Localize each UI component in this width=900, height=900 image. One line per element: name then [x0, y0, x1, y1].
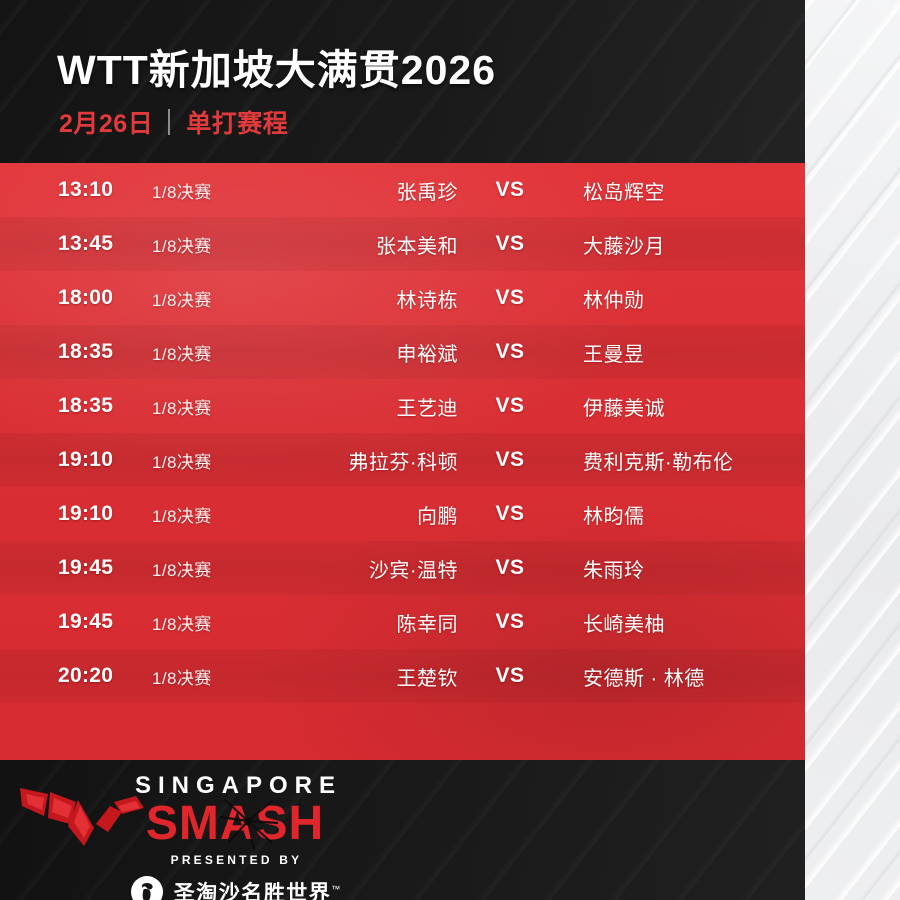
match-stage: 1/8决赛	[152, 556, 212, 581]
event-date: 2月26日	[59, 104, 153, 140]
match-stage: 1/8决赛	[152, 610, 212, 635]
player-two-name: 安德斯 · 林德	[583, 662, 705, 691]
match-time: 19:45	[58, 610, 140, 634]
player-two-name: 朱雨玲	[583, 554, 645, 583]
versus-label: VS	[486, 286, 534, 310]
player-two-name: 王曼昱	[583, 338, 645, 367]
page-title: WTT新加坡大满贯2026	[57, 36, 496, 96]
versus-label: VS	[486, 556, 534, 580]
table-row[interactable]: 19:451/8决赛沙宾·温特VS朱雨玲	[0, 541, 805, 595]
sponsor-name-text: 圣淘沙名胜世界	[174, 882, 332, 900]
table-row[interactable]: 19:101/8决赛向鹏VS林昀儒	[0, 487, 805, 541]
schedule-poster: WTT新加坡大满贯2026 2月26日 单打赛程 13:101/8决赛张禹珍VS…	[0, 0, 900, 900]
player-one-name: 陈幸同	[300, 608, 458, 637]
match-stage: 1/8决赛	[152, 502, 212, 527]
poster-header: WTT新加坡大满贯2026 2月26日 单打赛程	[0, 0, 805, 163]
player-one-name: 林诗栋	[300, 284, 458, 313]
versus-label: VS	[486, 394, 534, 418]
table-row[interactable]: 19:451/8决赛陈幸同VS长崎美柚	[0, 595, 805, 649]
player-two-name: 松岛辉空	[583, 176, 665, 205]
match-stage: 1/8决赛	[152, 340, 212, 365]
match-time: 19:45	[58, 556, 140, 580]
match-stage: 1/8决赛	[152, 178, 212, 203]
brand-smash-text: SMASH	[146, 797, 324, 850]
brand-singapore-text: SINGAPORE	[128, 774, 342, 798]
player-one-name: 向鹏	[300, 500, 458, 529]
versus-label: VS	[486, 610, 534, 634]
table-row[interactable]: 18:001/8决赛林诗栋VS林仲勋	[0, 271, 805, 325]
player-one-name: 张禹珍	[300, 176, 458, 205]
header-subline: 2月26日 单打赛程	[59, 104, 288, 140]
table-row[interactable]: 20:201/8决赛王楚钦VS安德斯 · 林德	[0, 649, 805, 703]
match-time: 18:35	[58, 394, 140, 418]
match-time: 20:20	[58, 664, 140, 688]
resorts-world-sentosa-logo-icon	[130, 875, 164, 900]
match-stage: 1/8决赛	[152, 448, 212, 473]
versus-label: VS	[486, 664, 534, 688]
versus-label: VS	[486, 232, 534, 256]
table-row[interactable]: 18:351/8决赛王艺迪VS伊藤美诚	[0, 379, 805, 433]
player-one-name: 张本美和	[300, 230, 458, 259]
event-branding: SINGAPORE SMASH PRESENTED BY	[0, 760, 470, 900]
table-row[interactable]: 13:451/8决赛张本美和VS大藤沙月	[0, 217, 805, 271]
player-two-name: 伊藤美诚	[583, 392, 665, 421]
sponsor-trademark: ™	[331, 884, 340, 894]
player-one-name: 沙宾·温特	[300, 554, 458, 583]
match-time: 19:10	[58, 448, 140, 472]
match-time: 18:35	[58, 340, 140, 364]
match-list: 13:101/8决赛张禹珍VS松岛辉空13:451/8决赛张本美和VS大藤沙月1…	[0, 163, 805, 703]
match-time: 13:45	[58, 232, 140, 256]
player-one-name: 申裕斌	[300, 338, 458, 367]
table-row[interactable]: 18:351/8决赛申裕斌VS王曼昱	[0, 325, 805, 379]
schedule-panel: 13:101/8决赛张禹珍VS松岛辉空13:451/8决赛张本美和VS大藤沙月1…	[0, 163, 805, 760]
match-time: 19:10	[58, 502, 140, 526]
match-stage: 1/8决赛	[152, 664, 212, 689]
table-row[interactable]: 19:101/8决赛弗拉芬·科顿VS费利克斯·勒布伦	[0, 433, 805, 487]
versus-label: VS	[486, 502, 534, 526]
versus-label: VS	[486, 448, 534, 472]
versus-label: VS	[486, 178, 534, 202]
match-time: 13:10	[58, 178, 140, 202]
match-time: 18:00	[58, 286, 140, 310]
match-stage: 1/8决赛	[152, 286, 212, 311]
match-stage: 1/8决赛	[152, 232, 212, 257]
player-one-name: 王楚钦	[300, 662, 458, 691]
brand-smash-wordmark: SMASH	[146, 799, 324, 849]
match-stage: 1/8决赛	[152, 394, 212, 419]
subline-divider	[168, 109, 170, 135]
table-row[interactable]: 13:101/8决赛张禹珍VS松岛辉空	[0, 163, 805, 217]
versus-label: VS	[486, 340, 534, 364]
player-two-name: 林昀儒	[583, 500, 645, 529]
player-one-name: 王艺迪	[300, 392, 458, 421]
player-two-name: 大藤沙月	[583, 230, 665, 259]
player-two-name: 费利克斯·勒布伦	[583, 446, 734, 475]
sponsor-name: 圣淘沙名胜世界™	[174, 877, 341, 900]
player-two-name: 林仲勋	[583, 284, 645, 313]
presented-by-label: PRESENTED BY	[168, 853, 303, 867]
player-two-name: 长崎美柚	[583, 608, 665, 637]
schedule-type-label: 单打赛程	[186, 104, 288, 140]
player-one-name: 弗拉芬·科顿	[300, 446, 458, 475]
sponsor-lockup: 圣淘沙名胜世界™	[130, 875, 341, 900]
